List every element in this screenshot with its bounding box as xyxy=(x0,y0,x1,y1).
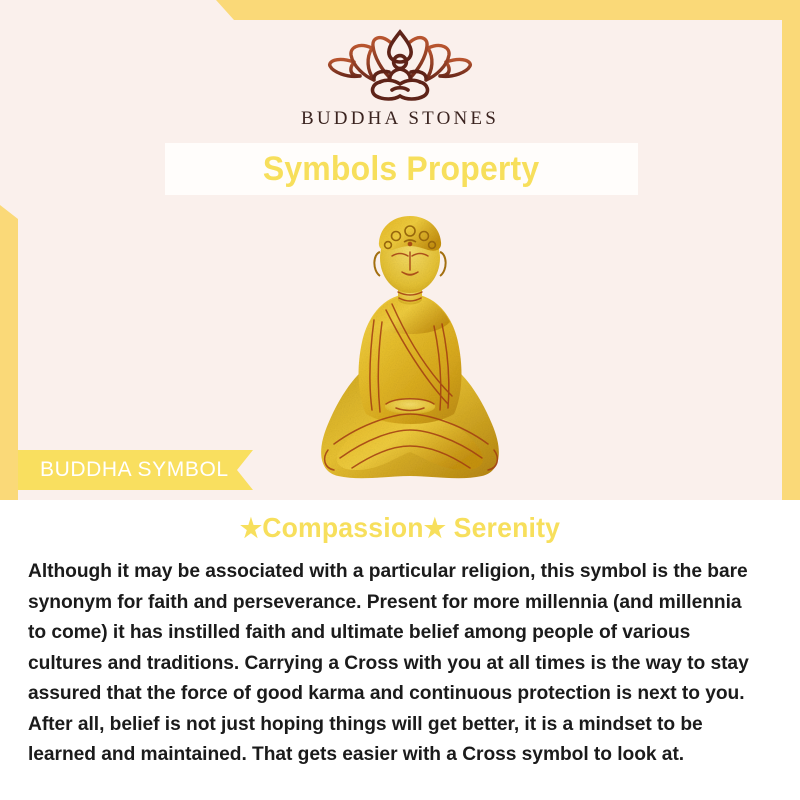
lotus-meditation-icon xyxy=(320,26,480,104)
brand-name: BUDDHA STONES xyxy=(301,108,499,130)
content-subheading: ★Compassion★ Serenity xyxy=(20,512,780,544)
infographic-page: BUDDHA STONES Symbols Property xyxy=(0,0,800,800)
section-ribbon-label: BUDDHA SYMBOL xyxy=(40,458,229,482)
star-icon-right: ★ xyxy=(424,513,446,543)
section-ribbon: BUDDHA SYMBOL xyxy=(18,450,253,490)
brand-logo: BUDDHA STONES xyxy=(0,26,800,141)
page-title: Symbols Property xyxy=(263,150,540,189)
subheading-word-serenity: Serenity xyxy=(446,512,560,543)
title-banner: Symbols Property xyxy=(165,143,638,195)
buddha-statue-image xyxy=(300,200,520,492)
left-yellow-accent-strip xyxy=(0,205,18,507)
subheading-word-compassion: Compassion xyxy=(262,512,424,543)
content-paragraph: Although it may be associated with a par… xyxy=(28,556,763,770)
star-icon-left: ★ xyxy=(240,513,262,543)
golden-buddha-illustration xyxy=(300,200,520,492)
